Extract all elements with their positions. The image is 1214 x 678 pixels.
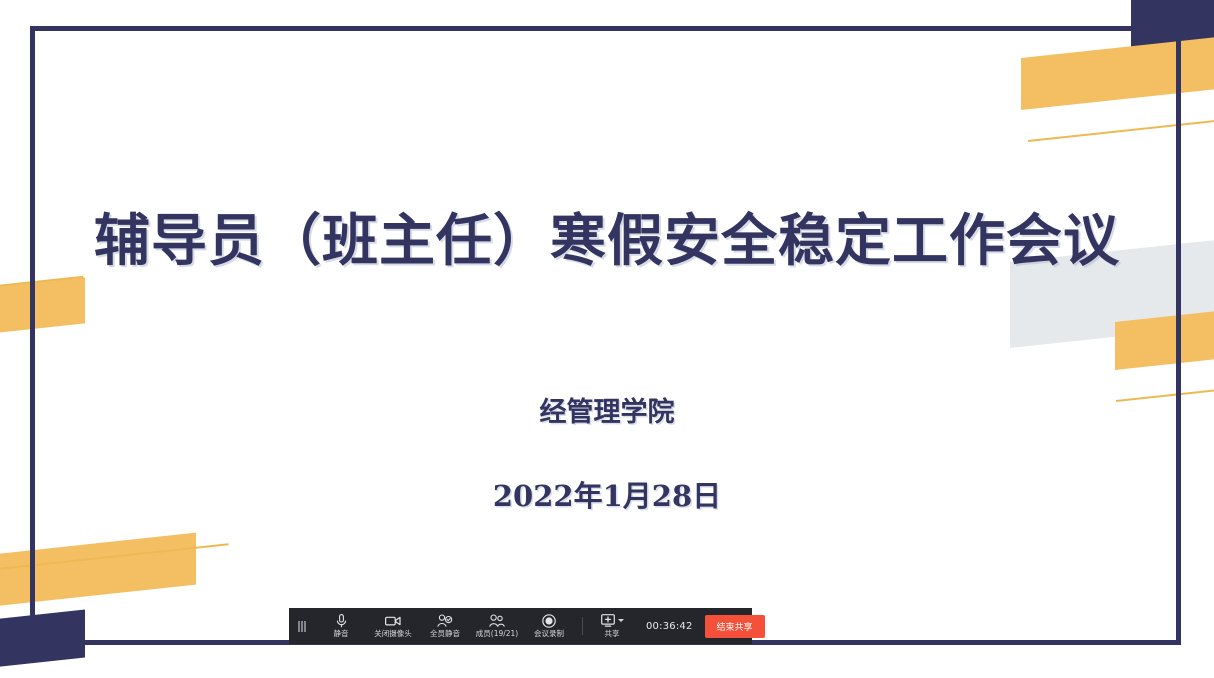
share-button-label: 共享: [605, 629, 620, 639]
microphone-icon: [336, 613, 347, 628]
mute-all-button[interactable]: 全员静音: [419, 613, 471, 639]
participants-button-label: 成员(19/21): [476, 629, 518, 639]
end-share-button[interactable]: 结束共享: [705, 615, 765, 638]
slide-date: 2022年1月28日: [0, 473, 1214, 515]
mute-all-icon: [437, 613, 453, 628]
mute-all-button-label: 全员静音: [430, 629, 460, 639]
toolbar-drag-handle[interactable]: [295, 619, 309, 633]
share-button[interactable]: 共享: [590, 613, 634, 639]
mute-button-label: 静音: [334, 629, 349, 639]
meeting-timer: 00:36:42: [646, 621, 693, 632]
presentation-screen: 辅导员（班主任）寒假安全稳定工作会议 经管理学院 2022年1月28日 静音: [0, 0, 1214, 678]
meeting-toolbar: 静音 关闭摄像头 全员静音: [289, 608, 752, 644]
slide-title: 辅导员（班主任）寒假安全稳定工作会议: [0, 196, 1214, 277]
record-button[interactable]: 会议录制: [523, 613, 575, 639]
camera-button[interactable]: 关闭摄像头: [367, 613, 419, 639]
record-icon: [542, 613, 556, 628]
chevron-down-icon[interactable]: [618, 619, 624, 622]
share-screen-icon: [601, 613, 615, 628]
slide-organization: 经管理学院: [0, 390, 1214, 429]
camera-off-icon: [385, 613, 401, 628]
participants-button[interactable]: 成员(19/21): [471, 613, 523, 639]
camera-button-label: 关闭摄像头: [374, 629, 412, 639]
record-button-label: 会议录制: [534, 629, 564, 639]
participants-icon: [489, 613, 505, 628]
mute-button[interactable]: 静音: [315, 613, 367, 639]
slide-border-frame: [30, 26, 1181, 645]
toolbar-divider: [582, 617, 583, 635]
